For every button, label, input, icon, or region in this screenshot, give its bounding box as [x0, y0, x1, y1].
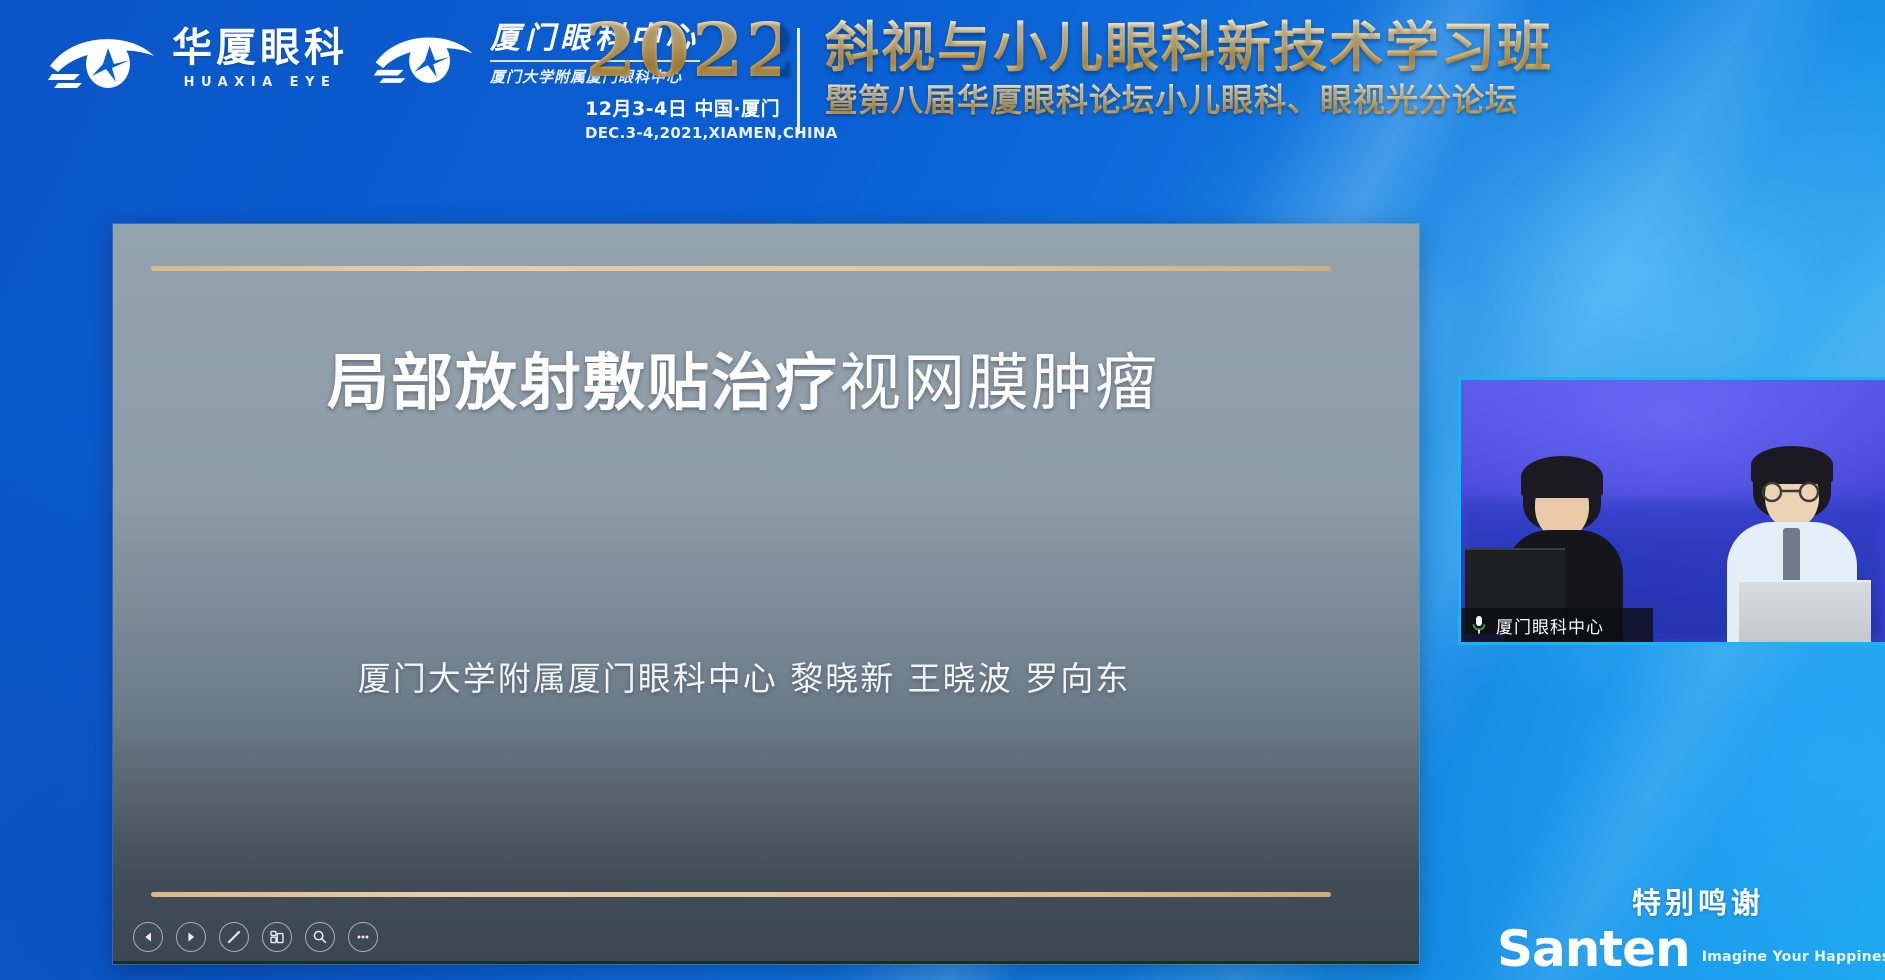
- eye-logo-icon: [46, 26, 158, 92]
- participant-name: 厦门眼科中心: [1496, 613, 1604, 638]
- event-title-block: 斜视与小儿眼科新技术学习班 暨第八届华厦眼科论坛小儿眼科、眼视光分论坛: [825, 18, 1553, 119]
- event-title: 斜视与小儿眼科新技术学习班: [825, 18, 1553, 78]
- sponsor-thanks-label: 特别鸣谢: [1533, 880, 1863, 922]
- sponsor-block: 特别鸣谢 Santen Imagine Your Happiness: [1533, 880, 1863, 972]
- slide-toolbar[interactable]: [133, 922, 378, 952]
- slide-bottom-edge: [113, 961, 1419, 964]
- laptop-right: [1739, 580, 1871, 642]
- event-date-cn: 12月3-4日 中国·厦门: [585, 94, 780, 121]
- brand-huaxia-cn: 华厦眼科: [172, 28, 348, 68]
- sponsor-logo: Santen Imagine Your Happiness: [1533, 926, 1863, 972]
- video-participant-tile[interactable]: 厦门眼科中心: [1461, 380, 1885, 642]
- slide-rule-top: [151, 266, 1331, 271]
- brand-huaxia-en: HUAXIA EYE: [172, 75, 348, 90]
- event-subtitle: 暨第八届华厦眼科论坛小儿眼科、眼视光分论坛: [825, 82, 1553, 119]
- event-date-en: DEC.3-4,2021,XIAMEN,CHINA: [585, 124, 780, 142]
- slide-subtitle: 厦门大学附属厦门眼科中心 黎晓新 王晓波 罗向东: [113, 652, 1419, 700]
- slide-title-bold: 局部放射敷贴治疗: [327, 346, 839, 419]
- pen-tool-button[interactable]: [219, 922, 249, 952]
- livestream-screen: 华厦眼科 HUAXIA EYE 厦门眼科中心 厦门大学附属厦门眼科中心: [0, 0, 1885, 980]
- event-year-block: 2022 12月3-4日 中国·厦门 DEC.3-4,2021,XIAMEN,C…: [585, 16, 780, 142]
- participant-name-bar: 厦门眼科中心: [1461, 608, 1653, 642]
- slide-title: 局部放射敷贴治疗视网膜肿瘤: [113, 346, 1419, 419]
- eye-logo-icon: [372, 25, 476, 87]
- event-year: 2022: [585, 16, 780, 86]
- more-options-button[interactable]: [348, 922, 378, 952]
- brand-huaxia-eye: 华厦眼科 HUAXIA EYE: [46, 26, 348, 92]
- sponsor-name: Santen: [1497, 926, 1690, 972]
- slide-rule-bottom: [151, 892, 1331, 897]
- banner-vertical-divider: [797, 28, 800, 134]
- presentation-slide[interactable]: 局部放射敷贴治疗视网膜肿瘤 厦门大学附属厦门眼科中心 黎晓新 王晓波 罗向东: [113, 224, 1419, 964]
- zoom-button[interactable]: [305, 922, 335, 952]
- sponsor-tagline: Imagine Your Happiness: [1702, 949, 1885, 972]
- previous-slide-button[interactable]: [133, 922, 163, 952]
- thumbnails-button[interactable]: [262, 922, 292, 952]
- slide-title-light: 视网膜肿瘤: [839, 346, 1159, 419]
- next-slide-button[interactable]: [176, 922, 206, 952]
- event-banner: 华厦眼科 HUAXIA EYE 厦门眼科中心 厦门大学附属厦门眼科中心: [0, 0, 1885, 168]
- microphone-icon: [1471, 615, 1487, 635]
